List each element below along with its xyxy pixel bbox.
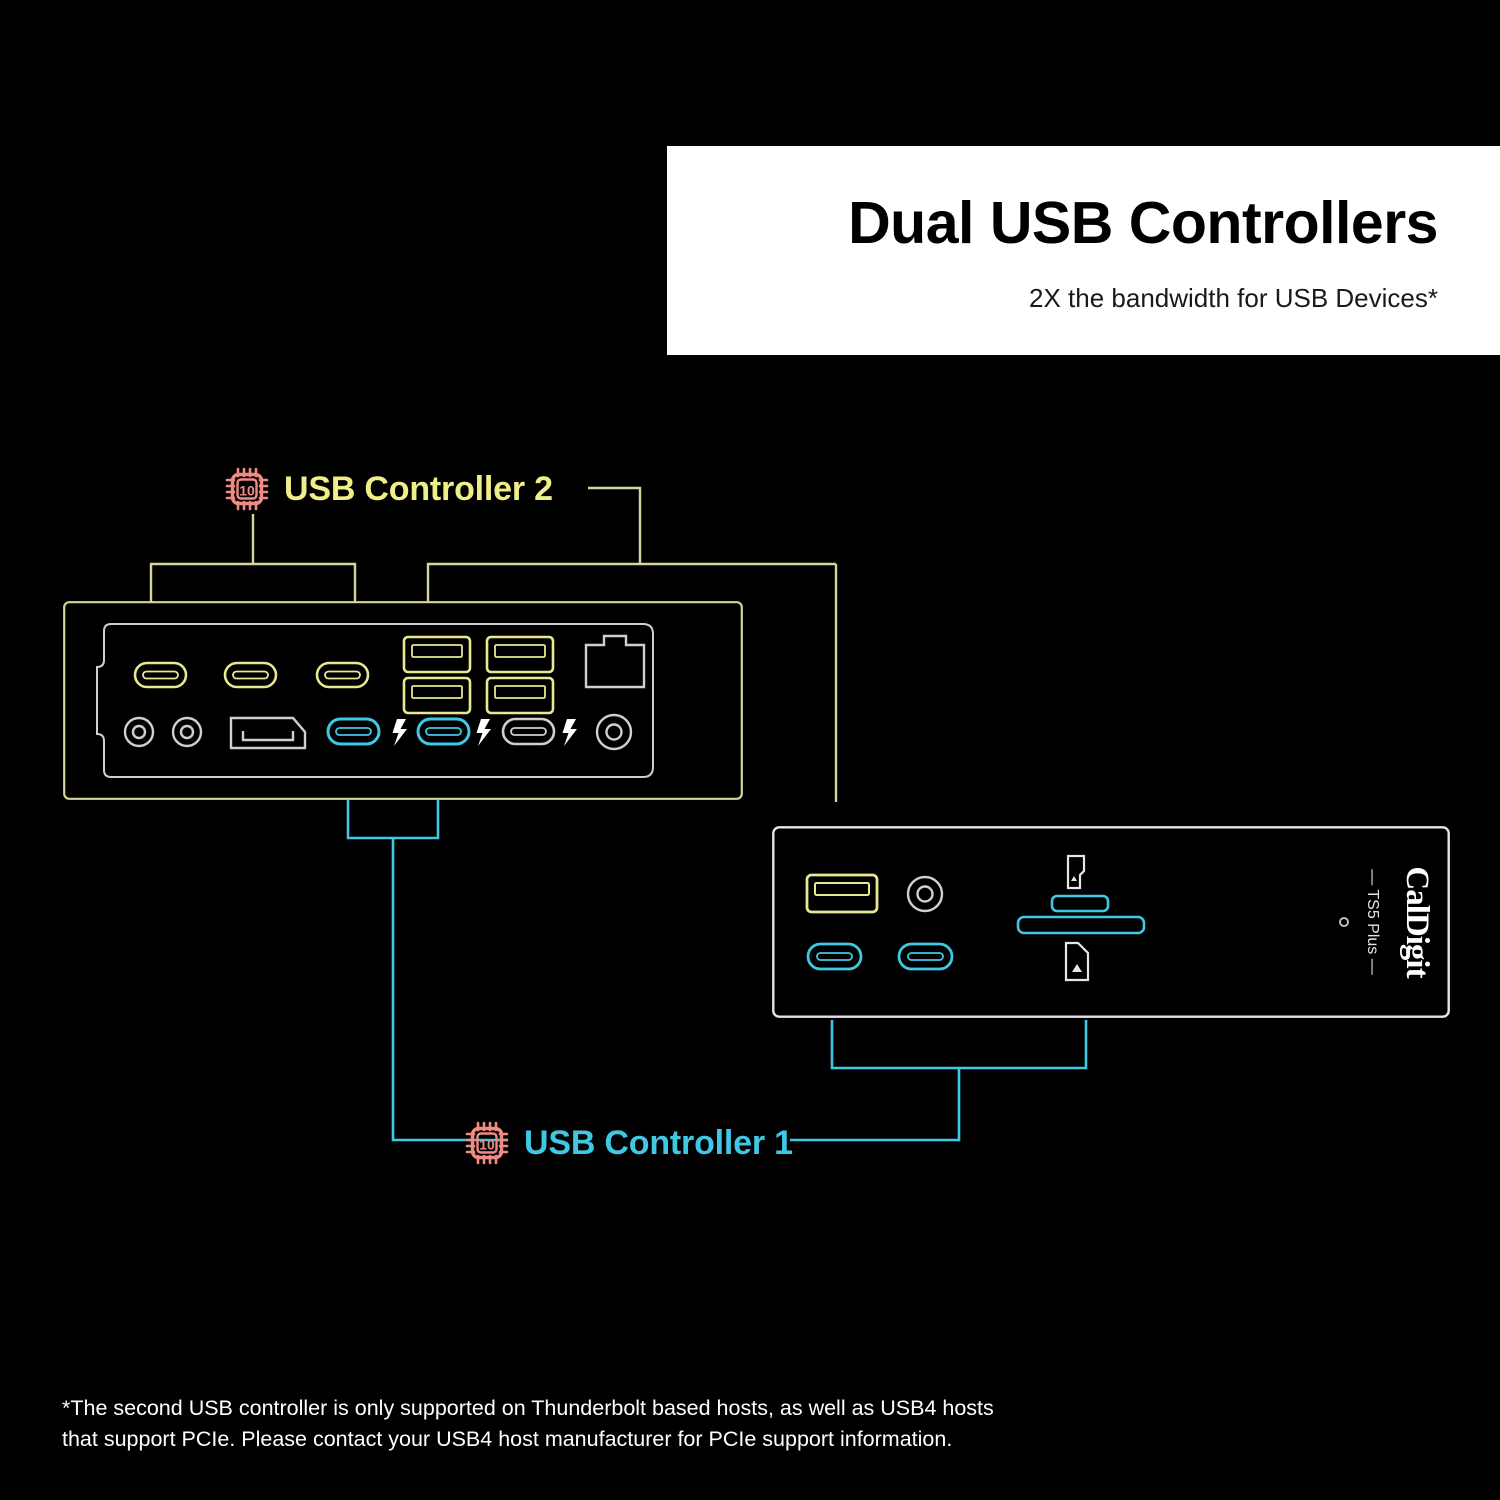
bracket-controller2-left [151,514,355,602]
port-usb-a-4 [487,678,553,713]
page-title: Dual USB Controllers [848,194,1438,253]
header-banner: Dual USB Controllers 2X the bandwidth fo… [667,146,1500,355]
power-led-indicator [1340,918,1348,926]
port-ethernet-rj45 [586,636,644,687]
bolt-icon-3 [563,719,578,746]
usb-controller-2-label: 10 USB Controller 2 [224,466,553,512]
port-usb-c-1 [135,663,186,687]
port-usb-c-2 [225,663,276,687]
page-subtitle: 2X the bandwidth for USB Devices* [1029,285,1438,311]
footnote-line-1: *The second USB controller is only suppo… [62,1393,1062,1424]
port-usb-a-2 [404,678,470,713]
chip-icon: 10 [464,1120,510,1166]
front-port-usb-c-1 [808,944,861,969]
port-audio-jack-2 [173,718,201,746]
dock-model-label: — TS5 Plus — [1364,869,1381,975]
brand-wordmark: CalDigit [1399,866,1435,978]
port-power-jack [597,715,631,749]
port-usb-a-1 [404,637,470,672]
usb-controller-1-text: USB Controller 1 [524,1124,793,1163]
port-thunderbolt-1 [328,719,379,744]
front-port-usb-a [807,875,877,912]
usb-controller-2-text: USB Controller 2 [284,470,553,509]
port-displayport [231,718,305,748]
dock-rear-panel [63,601,743,800]
bracket-controller1-rear [348,800,508,1140]
chip-badge-text: 10 [479,1137,495,1153]
microsd-card-icon [1068,856,1084,888]
footnote-line-2: that support PCIe. Please contact your U… [62,1424,1062,1455]
port-usb-c-3 [317,663,368,687]
bolt-icon-2 [477,719,492,746]
chip-icon: 10 [224,466,270,512]
port-thunderbolt-3 [503,719,554,744]
front-port-audio-jack [908,877,942,911]
port-audio-jack-1 [125,718,153,746]
port-usb-a-3 [487,637,553,672]
usb-controller-1-label: 10 USB Controller 1 [464,1120,793,1166]
dock-rear-port-plate [97,624,653,777]
chip-badge-text: 10 [239,483,255,499]
footnote: *The second USB controller is only suppo… [62,1393,1062,1454]
front-slot-sd [1018,917,1144,933]
bolt-icon-1 [393,719,408,746]
front-slot-microsd [1052,896,1108,911]
front-port-usb-c-2 [899,944,952,969]
port-thunderbolt-2 [418,719,469,744]
bracket-controller1-front [790,1020,1086,1140]
dock-front-panel: — TS5 Plus — CalDigit [772,826,1450,1018]
sd-card-icon [1066,943,1088,980]
